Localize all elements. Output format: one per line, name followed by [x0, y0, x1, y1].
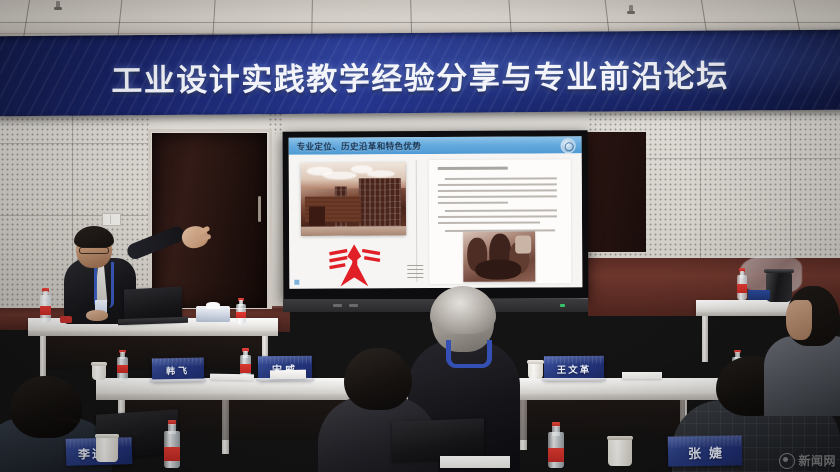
water-bottle-presenter-left [40, 288, 51, 322]
handout-papers-front [440, 456, 510, 468]
placard-name-0: 韩飞 [166, 364, 190, 377]
water-bottle-presenter-right [236, 298, 246, 324]
tissue-sheet [206, 302, 220, 309]
paper-cup-left [92, 364, 106, 380]
blue-box-side-table [748, 290, 770, 300]
handout-papers-b [210, 374, 254, 381]
document-heading-line [438, 167, 508, 170]
document-inset-photo [463, 231, 535, 281]
event-banner-title: 工业设计实践教学经验分享与专业前沿论坛 [111, 50, 729, 100]
handout-papers-c [622, 372, 662, 379]
power-led-indicator [560, 304, 565, 307]
conference-room-photo: 专业定位、历史沿革和特色优势 [0, 0, 840, 472]
attendee-grey-lanyard [446, 340, 492, 368]
attendee-dark-head [344, 348, 412, 410]
paper-cup-front-right [608, 438, 632, 466]
handout-papers-a [270, 370, 306, 380]
name-placard-4: 张婕 [668, 435, 743, 466]
name-placard-2: 王文革 [544, 356, 604, 380]
institution-logo-icon [561, 138, 576, 153]
paper-cup-front-left [96, 436, 118, 462]
sprinkler-head-right [628, 5, 634, 15]
historical-building-photo [301, 162, 406, 236]
watermark-text: 新闻网 [798, 452, 836, 469]
name-placard-0: 韩飞 [152, 358, 204, 381]
slide-body [289, 153, 583, 289]
red-emblem-svg [327, 242, 382, 286]
red-emblem-logo [327, 242, 382, 286]
placard-name-2: 王文革 [557, 362, 592, 376]
event-banner: 工业设计实践教学经验分享与专业前沿论坛 [0, 30, 840, 117]
attendee-side-torso [764, 336, 840, 416]
watermark: 新闻网 [779, 452, 836, 469]
dark-wall-recess-right [586, 132, 646, 252]
light-switch-panel[interactable] [102, 213, 121, 226]
slide-title: 专业定位、历史沿革和特色优势 [297, 140, 422, 153]
slide-title-bar: 专业定位、历史沿革和特色优势 [289, 136, 582, 155]
water-bottle-side-table [737, 268, 747, 300]
document-scan-page [429, 159, 572, 284]
speaker-left-hand [86, 310, 108, 321]
red-marker-object [60, 316, 72, 323]
slide-page-marker [294, 280, 299, 285]
sprinkler-head-left [55, 1, 61, 11]
slide-surface: 专业定位、历史沿革和特色优势 [289, 136, 583, 289]
room-door[interactable] [152, 133, 267, 308]
attendee-side-face [786, 300, 812, 340]
projection-screen: 专业定位、历史沿革和特色优势 [283, 130, 589, 300]
attendee-left-head [10, 376, 82, 438]
speaker-glasses [79, 247, 109, 254]
water-bottle-front-right [548, 422, 564, 468]
door-handle[interactable] [258, 196, 261, 222]
water-bottle-front-left [164, 420, 180, 468]
water-bottle-middle-left [117, 350, 128, 380]
news-site-logo-icon [779, 453, 795, 469]
slide-small-caption-block [407, 264, 423, 278]
paper-cup-right [528, 362, 543, 379]
placard-name-4: 张婕 [680, 443, 730, 463]
